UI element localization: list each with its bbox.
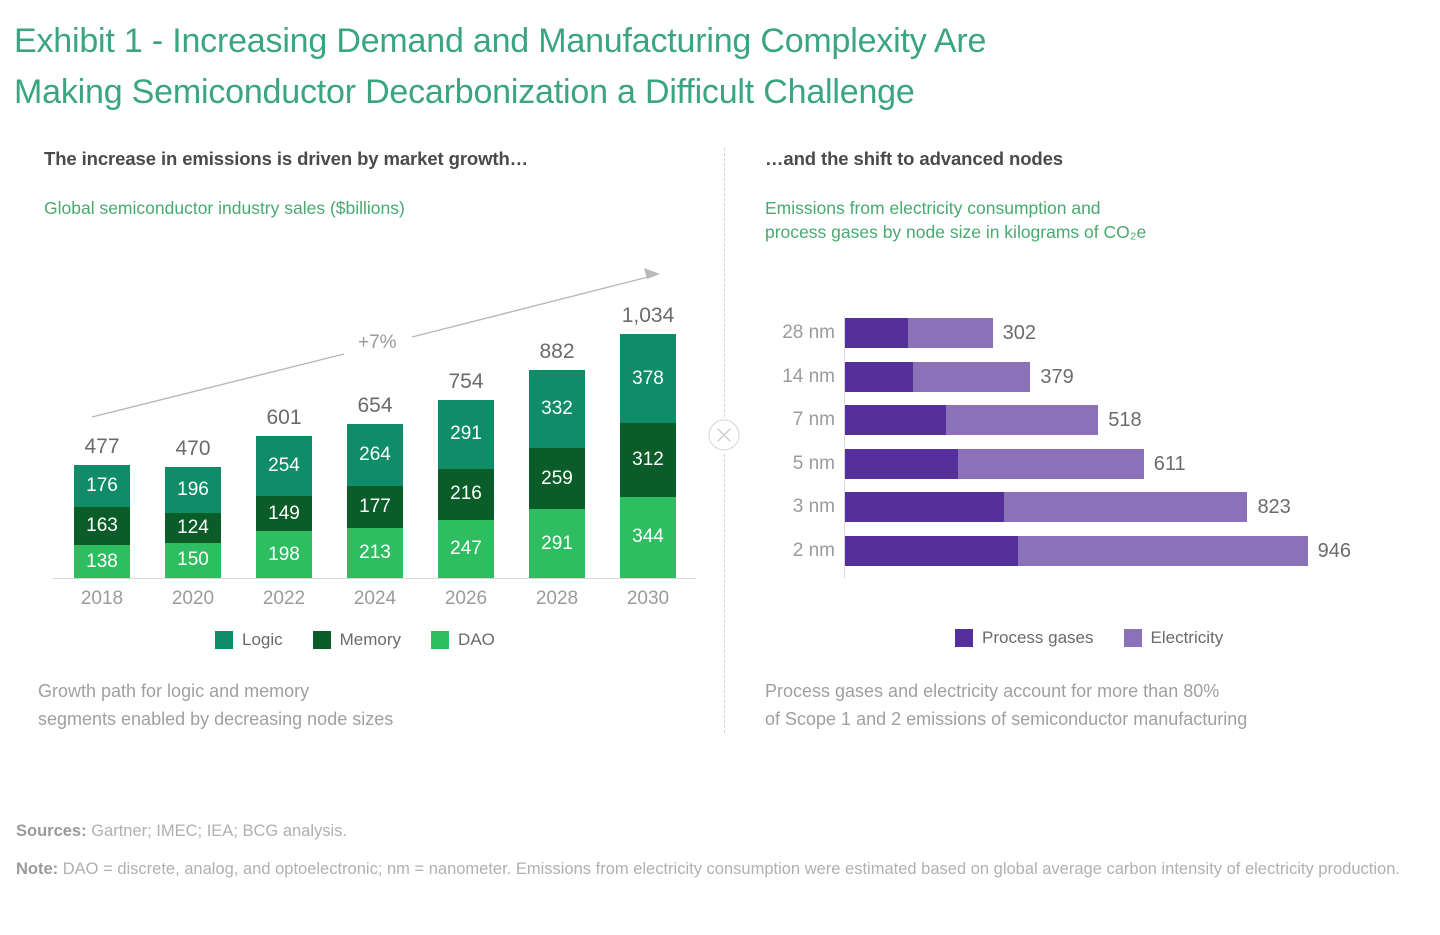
y-axis-tick-label: 2 nm: [765, 536, 835, 566]
column-segment-memory: 177: [347, 486, 403, 528]
column-stack: 150124196: [165, 467, 221, 578]
note-text: DAO = discrete, analog, and optoelectron…: [58, 860, 1400, 878]
bar-row: 7 nm518: [765, 405, 1425, 435]
legend-item-dao[interactable]: DAO: [431, 630, 495, 650]
column-segment-logic: 332: [529, 370, 585, 448]
vchart-baseline: [52, 578, 696, 579]
column-total-label: 470: [165, 437, 221, 461]
column-segment-logic: 264: [347, 424, 403, 486]
bar-segment-electricity: [1004, 492, 1248, 522]
legend-item-process-gases[interactable]: Process gases: [955, 628, 1094, 648]
column-segment-dao: 291: [529, 509, 585, 578]
y-axis-tick-label: 3 nm: [765, 492, 835, 522]
bar-segment-electricity: [1018, 536, 1307, 566]
bar-segment-electricity: [946, 405, 1099, 435]
bar-stack: [845, 449, 1144, 479]
left-panel-footer-line2: segments enabled by decreasing node size…: [38, 709, 393, 729]
column-segment-dao: 150: [165, 543, 221, 578]
column-segment-logic: 291: [438, 400, 494, 469]
bar-value-label: 611: [1154, 449, 1186, 479]
left-panel-footer-line1: Growth path for logic and memory: [38, 681, 309, 701]
column-stack: 291259332: [529, 370, 585, 578]
x-axis-tick-label: 2024: [337, 588, 413, 610]
column-segment-memory: 216: [438, 469, 494, 520]
column-total-label: 477: [74, 435, 130, 459]
legend-label: Process gases: [982, 628, 1094, 648]
column-stack: 213177264: [347, 424, 403, 578]
column-segment-memory: 124: [165, 513, 221, 542]
column-segment-memory: 259: [529, 448, 585, 509]
sources-label: Sources:: [16, 822, 87, 840]
column-total-label: 1,034: [620, 304, 676, 328]
bar-segment-process-gases: [845, 362, 913, 392]
legend-label: Memory: [340, 630, 401, 650]
column-total-label: 601: [256, 406, 312, 430]
bar-value-label: 379: [1040, 362, 1073, 392]
page-title: Exhibit 1 - Increasing Demand and Manufa…: [14, 16, 1314, 118]
legend-label: Electricity: [1151, 628, 1224, 648]
legend-swatch-icon: [313, 631, 331, 649]
right-panel-header: …and the shift to advanced nodes Emissio…: [765, 148, 1425, 244]
x-axis-tick-label: 2030: [610, 588, 686, 610]
x-axis-tick-label: 2028: [519, 588, 595, 610]
right-panel-subheading-line2: process gases by node size in kilograms …: [765, 222, 1146, 242]
note-label: Note:: [16, 860, 58, 878]
column-segment-logic: 378: [620, 334, 676, 423]
x-axis-tick-label: 2026: [428, 588, 504, 610]
left-chart-legend: LogicMemoryDAO: [215, 630, 495, 650]
bar-row: 28 nm302: [765, 318, 1425, 348]
column-segment-logic: 254: [256, 436, 312, 496]
bar-row: 5 nm611: [765, 449, 1425, 479]
bar-stack: [845, 362, 1030, 392]
legend-swatch-icon: [215, 631, 233, 649]
bar-segment-process-gases: [845, 492, 1004, 522]
column-segment-memory: 149: [256, 496, 312, 531]
page-title-line2: Making Semiconductor Decarbonization a D…: [14, 67, 1314, 118]
x-axis-tick-label: 2022: [246, 588, 322, 610]
column-total-label: 882: [529, 340, 585, 364]
legend-item-logic[interactable]: Logic: [215, 630, 283, 650]
emissions-by-node-chart: 28 nm30214 nm3797 nm5185 nm6113 nm8232 n…: [765, 312, 1425, 580]
legend-label: Logic: [242, 630, 283, 650]
left-panel-header: The increase in emissions is driven by m…: [44, 148, 704, 221]
y-axis-tick-label: 28 nm: [765, 318, 835, 348]
bar-segment-electricity: [913, 362, 1030, 392]
column-segment-logic: 176: [74, 465, 130, 507]
bar-segment-process-gases: [845, 405, 946, 435]
right-panel-heading: …and the shift to advanced nodes: [765, 148, 1425, 170]
page-title-line1: Exhibit 1 - Increasing Demand and Manufa…: [14, 22, 986, 60]
right-chart-legend: Process gasesElectricity: [955, 628, 1223, 648]
bar-stack: [845, 536, 1308, 566]
sources-text: Gartner; IMEC; IEA; BCG analysis.: [87, 822, 347, 840]
column-stack: 247216291: [438, 400, 494, 578]
column-segment-dao: 247: [438, 520, 494, 578]
column-stack: 138163176: [74, 465, 130, 578]
column-segment-dao: 344: [620, 497, 676, 578]
bar-value-label: 518: [1108, 405, 1141, 435]
bar-row: 14 nm379: [765, 362, 1425, 392]
right-panel-subheading: Emissions from electricity consumption a…: [765, 197, 1425, 244]
legend-label: DAO: [458, 630, 495, 650]
legend-item-electricity[interactable]: Electricity: [1124, 628, 1224, 648]
left-panel-footer: Growth path for logic and memory segment…: [38, 678, 678, 734]
y-axis-tick-label: 7 nm: [765, 405, 835, 435]
column-segment-dao: 138: [74, 545, 130, 578]
left-panel-subheading: Global semiconductor industry sales ($bi…: [44, 197, 704, 221]
bar-value-label: 302: [1003, 318, 1036, 348]
column-stack: 198149254: [256, 436, 312, 578]
note-line: Note: DAO = discrete, analog, and optoel…: [16, 858, 1428, 882]
x-axis-tick-label: 2018: [64, 588, 140, 610]
left-panel-heading: The increase in emissions is driven by m…: [44, 148, 704, 170]
bar-segment-electricity: [908, 318, 993, 348]
y-axis-tick-label: 5 nm: [765, 449, 835, 479]
column-total-label: 754: [438, 370, 494, 394]
bar-value-label: 946: [1318, 536, 1351, 566]
right-panel-footer-line2: of Scope 1 and 2 emissions of semiconduc…: [765, 709, 1247, 729]
legend-swatch-icon: [1124, 629, 1142, 647]
bar-stack: [845, 405, 1098, 435]
bar-stack: [845, 492, 1247, 522]
legend-swatch-icon: [955, 629, 973, 647]
growth-rate-annotation: +7%: [352, 332, 403, 354]
right-panel-footer: Process gases and electricity account fo…: [765, 678, 1415, 734]
bar-segment-process-gases: [845, 318, 908, 348]
legend-swatch-icon: [431, 631, 449, 649]
column-segment-logic: 196: [165, 467, 221, 513]
column-segment-dao: 198: [256, 531, 312, 578]
bar-stack: [845, 318, 993, 348]
column-total-label: 654: [347, 394, 403, 418]
column-segment-memory: 163: [74, 507, 130, 545]
column-segment-dao: 213: [347, 528, 403, 578]
column-stack: 344312378: [620, 334, 676, 578]
y-axis-tick-label: 14 nm: [765, 362, 835, 392]
bar-segment-process-gases: [845, 449, 958, 479]
right-panel-subheading-line1: Emissions from electricity consumption a…: [765, 198, 1101, 218]
x-axis-tick-label: 2020: [155, 588, 231, 610]
bar-row: 3 nm823: [765, 492, 1425, 522]
right-panel-footer-line1: Process gases and electricity account fo…: [765, 681, 1219, 701]
column-segment-memory: 312: [620, 423, 676, 497]
legend-item-memory[interactable]: Memory: [313, 630, 401, 650]
bar-value-label: 823: [1257, 492, 1290, 522]
bar-segment-process-gases: [845, 536, 1018, 566]
bar-segment-electricity: [958, 449, 1144, 479]
circle-x-icon: [707, 418, 741, 452]
bar-row: 2 nm946: [765, 536, 1425, 566]
semiconductor-sales-chart: 4771381631762018470150124196202060119814…: [44, 262, 704, 622]
sources-line: Sources: Gartner; IMEC; IEA; BCG analysi…: [16, 820, 1426, 843]
